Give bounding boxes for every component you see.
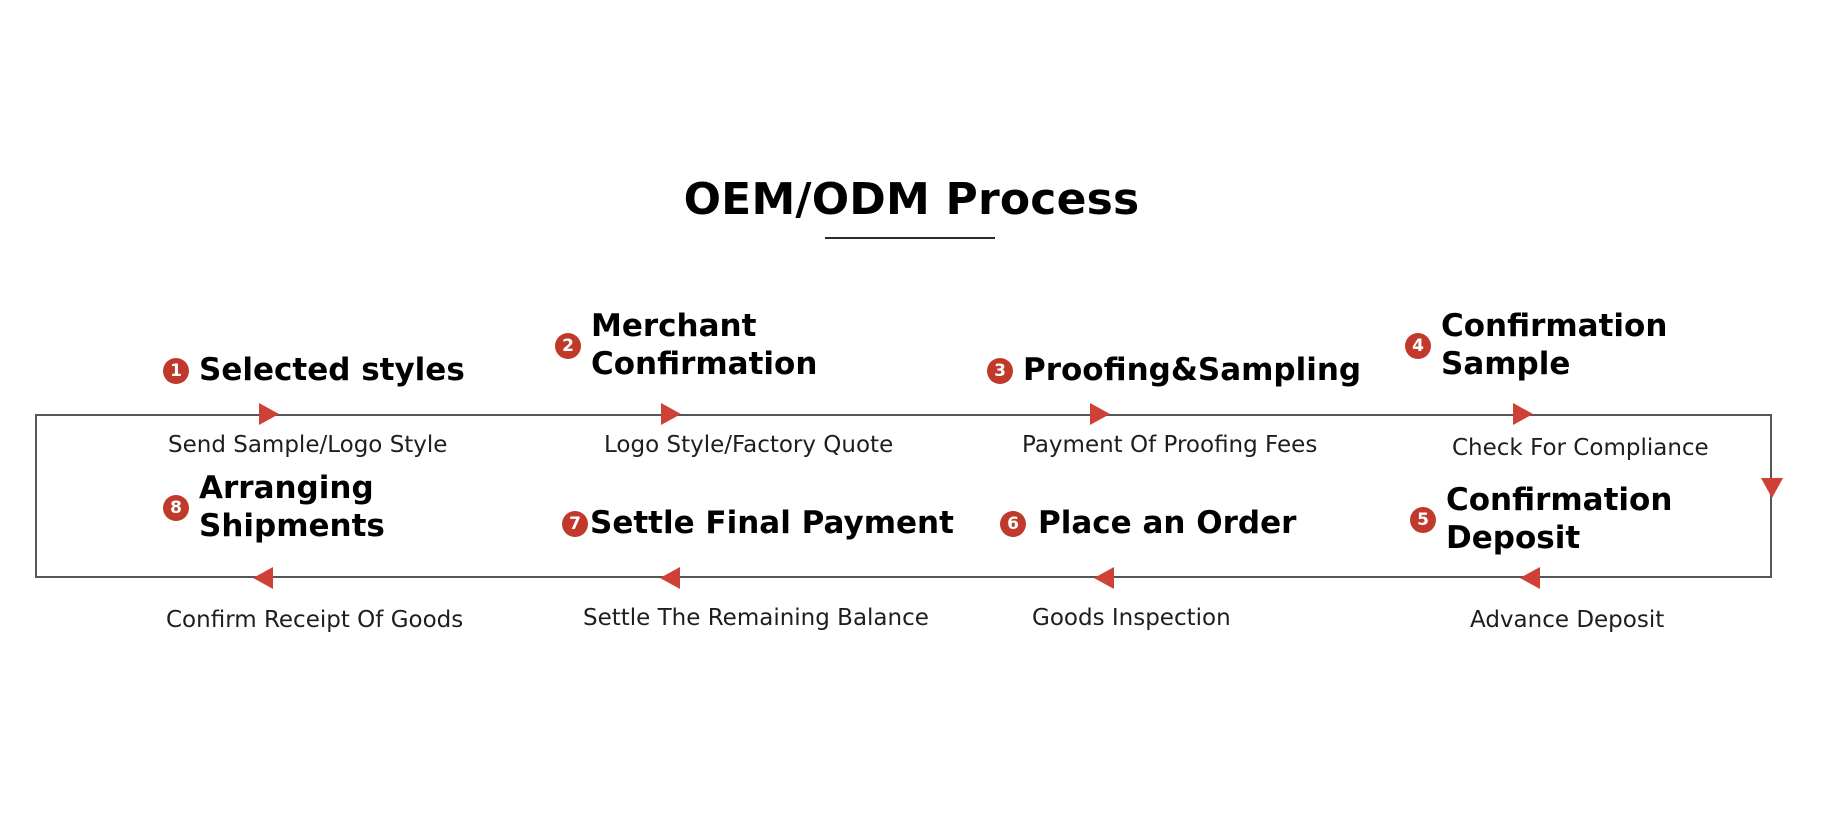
step-1-head: 1 Selected styles [163, 352, 465, 390]
title-underline [825, 237, 995, 239]
step-7-badge: 7 [562, 511, 588, 537]
step-2-head: 2 Merchant Confirmation [555, 308, 851, 384]
arrow-right-icon-4 [1513, 403, 1533, 425]
step-1-subtitle: Send Sample/Logo Style [168, 432, 447, 460]
step-6-head: 6 Place an Order [1000, 505, 1296, 543]
step-6-subtitle: Goods Inspection [1032, 605, 1231, 633]
arrow-left-icon-5 [1520, 567, 1540, 589]
diagram-canvas: OEM/ODM Process 1 Selected styles Send S… [0, 0, 1823, 829]
step-5-head: 5 Confirmation Deposit [1410, 482, 1706, 558]
step-1-title: Selected styles [199, 352, 465, 390]
step-5[interactable]: 5 Confirmation Deposit [1410, 482, 1706, 558]
page-title: OEM/ODM Process [684, 178, 1140, 222]
step-8-badge: 8 [163, 495, 189, 521]
step-6-badge: 6 [1000, 511, 1026, 537]
step-4-title: Confirmation Sample [1441, 308, 1701, 384]
step-1[interactable]: 1 Selected styles [163, 352, 465, 390]
step-7[interactable]: 7 Settle Final Payment [562, 505, 954, 543]
step-4-subtitle: Check For Compliance [1452, 435, 1709, 463]
step-8-title: Arranging Shipments [199, 470, 459, 546]
step-3-head: 3 Proofing&Sampling [987, 352, 1361, 390]
step-3-subtitle: Payment Of Proofing Fees [1022, 432, 1317, 460]
step-8[interactable]: 8 Arranging Shipments [163, 470, 459, 546]
step-5-badge: 5 [1410, 507, 1436, 533]
step-7-subtitle: Settle The Remaining Balance [583, 605, 929, 633]
page-title-wrap: OEM/ODM Process [0, 178, 1823, 222]
step-6[interactable]: 6 Place an Order [1000, 505, 1296, 543]
step-4-head: 4 Confirmation Sample [1405, 308, 1701, 384]
step-2[interactable]: 2 Merchant Confirmation [555, 308, 851, 384]
step-3-badge: 3 [987, 358, 1013, 384]
step-3-title: Proofing&Sampling [1023, 352, 1361, 390]
arrow-down-icon-right-edge [1761, 478, 1783, 498]
arrow-left-icon-8 [253, 567, 273, 589]
step-8-subtitle: Confirm Receipt Of Goods [166, 607, 463, 635]
step-2-badge: 2 [555, 333, 581, 359]
step-8-head: 8 Arranging Shipments [163, 470, 459, 546]
arrow-left-icon-7 [660, 567, 680, 589]
step-7-head: 7 Settle Final Payment [562, 505, 954, 543]
step-2-subtitle: Logo Style/Factory Quote [604, 432, 893, 460]
arrow-right-icon-1 [259, 403, 279, 425]
step-3[interactable]: 3 Proofing&Sampling [987, 352, 1361, 390]
step-5-subtitle: Advance Deposit [1470, 607, 1664, 635]
arrow-right-icon-2 [661, 403, 681, 425]
step-4[interactable]: 4 Confirmation Sample [1405, 308, 1701, 384]
step-6-title: Place an Order [1038, 505, 1296, 543]
step-2-title: Merchant Confirmation [591, 308, 851, 384]
step-4-badge: 4 [1405, 333, 1431, 359]
step-7-title: Settle Final Payment [590, 505, 954, 543]
arrow-left-icon-6 [1094, 567, 1114, 589]
step-1-badge: 1 [163, 358, 189, 384]
arrow-right-icon-3 [1090, 403, 1110, 425]
step-5-title: Confirmation Deposit [1446, 482, 1706, 558]
